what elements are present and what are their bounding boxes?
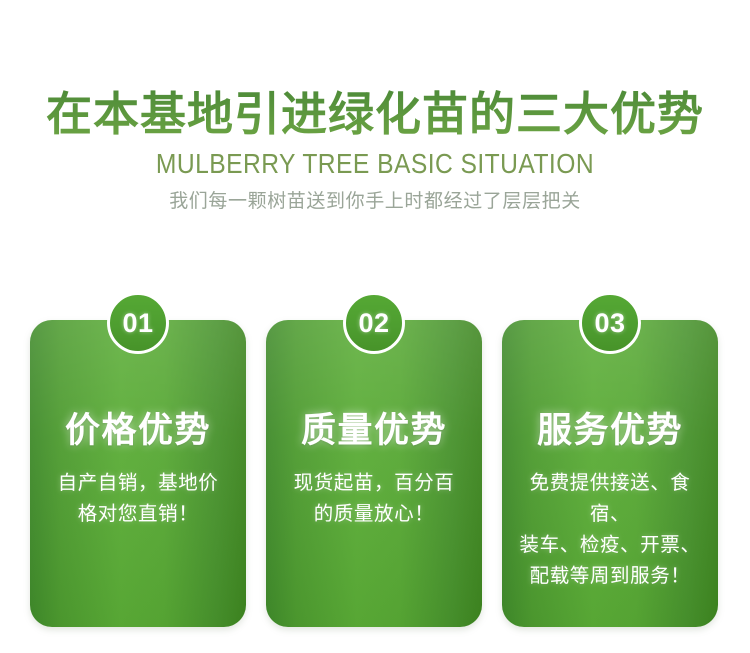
advantage-card-3: 03 服务优势 免费提供接送、食宿、 装车、检疫、开票、 配载等周到服务！ [502, 320, 718, 627]
card-content-3: 服务优势 免费提供接送、食宿、 装车、检疫、开票、 配载等周到服务！ [502, 320, 718, 627]
card-body-2: 现货起苗，百分百 的质量放心！ [274, 468, 474, 530]
card-body-line: 格对您直销！ [38, 499, 238, 530]
page-subtitle-english: MULBERRY TREE BASIC SITUATION [45, 142, 705, 180]
card-body-3: 免费提供接送、食宿、 装车、检疫、开票、 配载等周到服务！ [510, 468, 710, 592]
advantage-card-2: 02 质量优势 现货起苗，百分百 的质量放心！ [266, 320, 482, 627]
page-title: 在本基地引进绿化苗的三大优势 [0, 0, 750, 142]
card-body-1: 自产自销，基地价 格对您直销！ [38, 468, 238, 530]
card-body-line: 自产自销，基地价 [38, 468, 238, 499]
card-body-line: 装车、检疫、开票、 [510, 530, 710, 561]
promo-banner: 在本基地引进绿化苗的三大优势 MULBERRY TREE BASIC SITUA… [0, 0, 750, 653]
card-heading-2: 质量优势 [266, 410, 482, 452]
card-body-line: 免费提供接送、食宿、 [510, 468, 710, 530]
card-body-line: 的质量放心！ [274, 499, 474, 530]
card-heading-3: 服务优势 [502, 410, 718, 452]
card-body-line: 配载等周到服务！ [510, 561, 710, 592]
banner-header: 在本基地引进绿化苗的三大优势 MULBERRY TREE BASIC SITUA… [0, 0, 750, 215]
advantage-cards-row: 01 价格优势 自产自销，基地价 格对您直销！ 02 质量优势 现货起苗，百分百… [30, 320, 718, 627]
card-heading-1: 价格优势 [30, 410, 246, 452]
card-body-line: 现货起苗，百分百 [274, 468, 474, 499]
card-content-1: 价格优势 自产自销，基地价 格对您直销！ [30, 320, 246, 627]
advantage-card-1: 01 价格优势 自产自销，基地价 格对您直销！ [30, 320, 246, 627]
page-tagline: 我们每一颗树苗送到你手上时都经过了层层把关 [0, 180, 750, 215]
card-content-2: 质量优势 现货起苗，百分百 的质量放心！ [266, 320, 482, 627]
